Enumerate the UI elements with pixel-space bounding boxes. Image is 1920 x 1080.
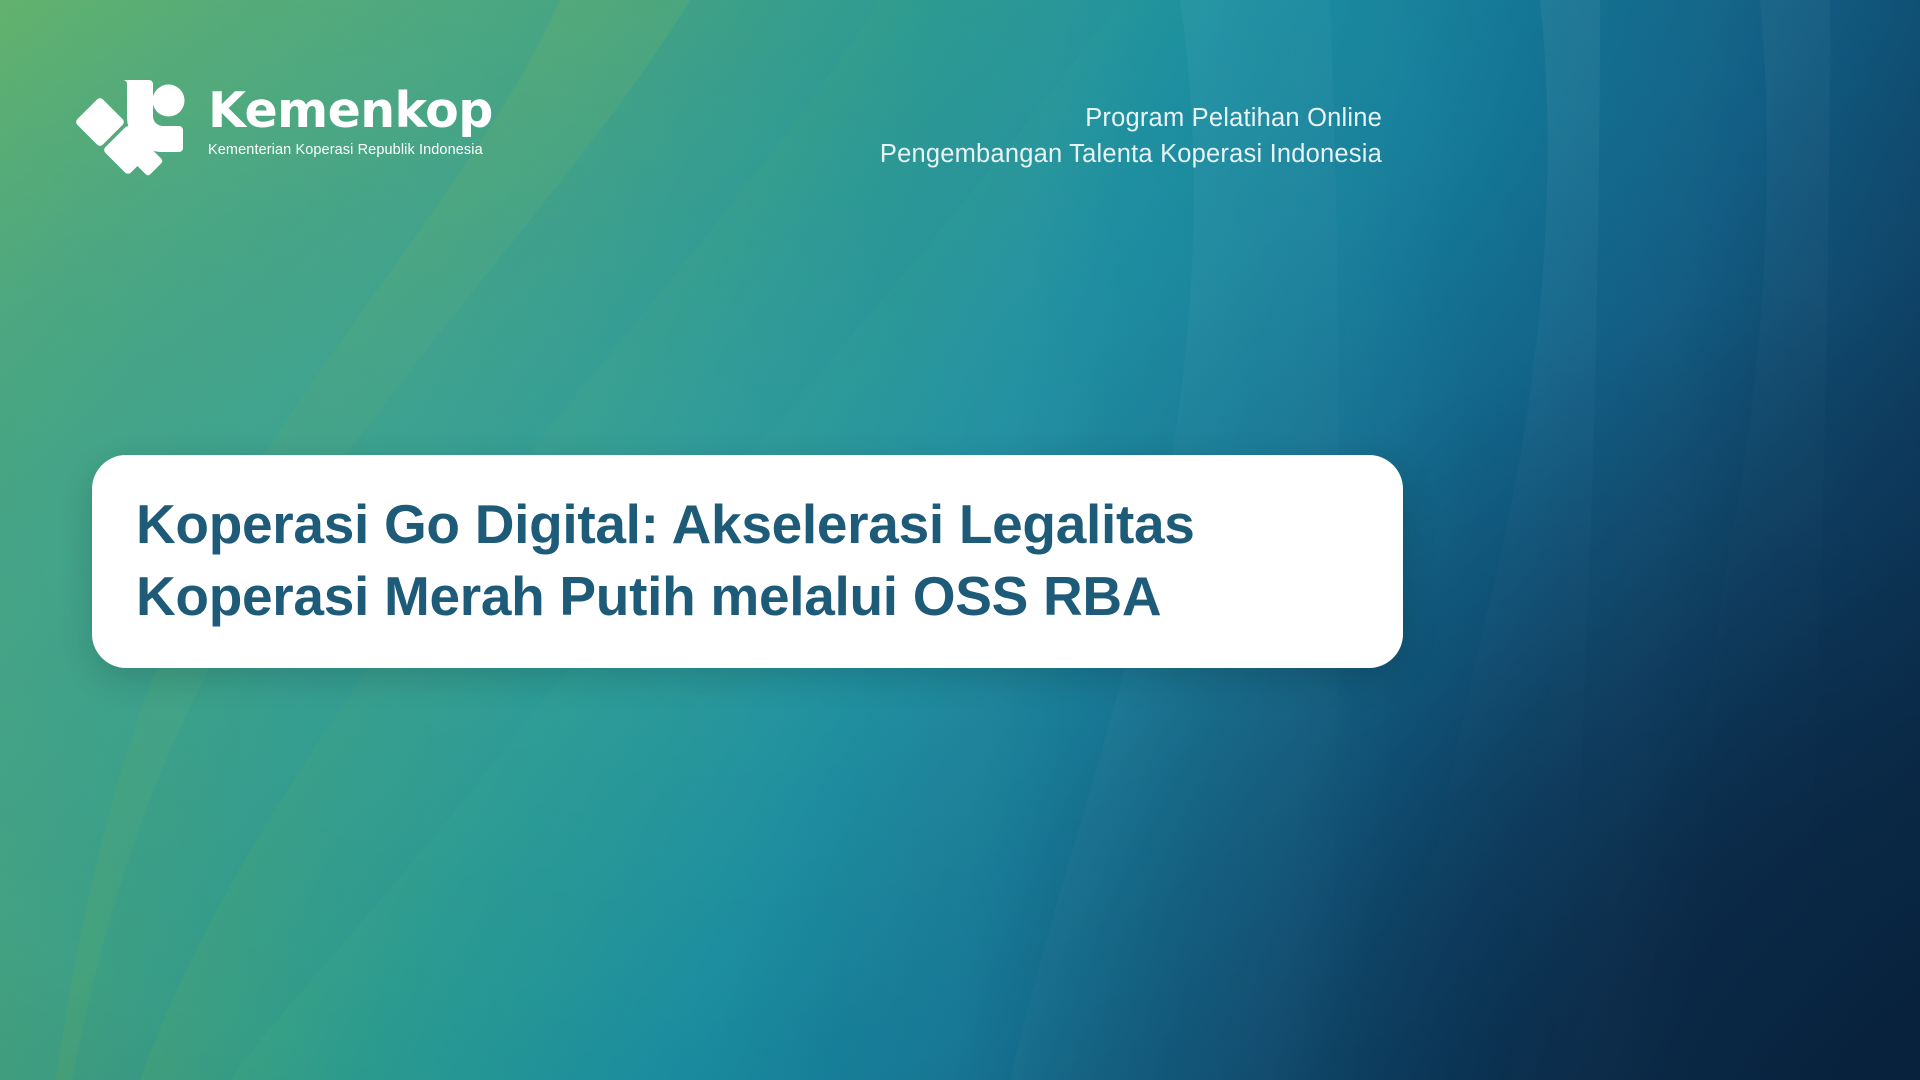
logo-tagline: Kementerian Koperasi Republik Indonesia [208,142,493,159]
presentation-slide: Kemenkop Kementerian Koperasi Republik I… [0,0,1920,1080]
slide-title-line-1: Koperasi Go Digital: Akselerasi Legalita… [136,489,1363,561]
program-header: Program Pelatihan Online Pengembangan Ta… [880,100,1382,172]
kemenkop-logo: Kemenkop Kementerian Koperasi Republik I… [76,62,493,176]
logo-wordmark: Kemenkop [208,86,493,135]
logo-text-block: Kemenkop Kementerian Koperasi Republik I… [208,62,493,159]
title-card: Koperasi Go Digital: Akselerasi Legalita… [92,455,1403,668]
program-header-line-2: Pengembangan Talenta Koperasi Indonesia [880,136,1382,172]
slide-title: Koperasi Go Digital: Akselerasi Legalita… [136,489,1363,632]
slide-title-line-2: Koperasi Merah Putih melalui OSS RBA [136,561,1363,633]
kemenkop-logo-mark-icon [76,64,192,176]
program-header-line-1: Program Pelatihan Online [880,100,1382,136]
